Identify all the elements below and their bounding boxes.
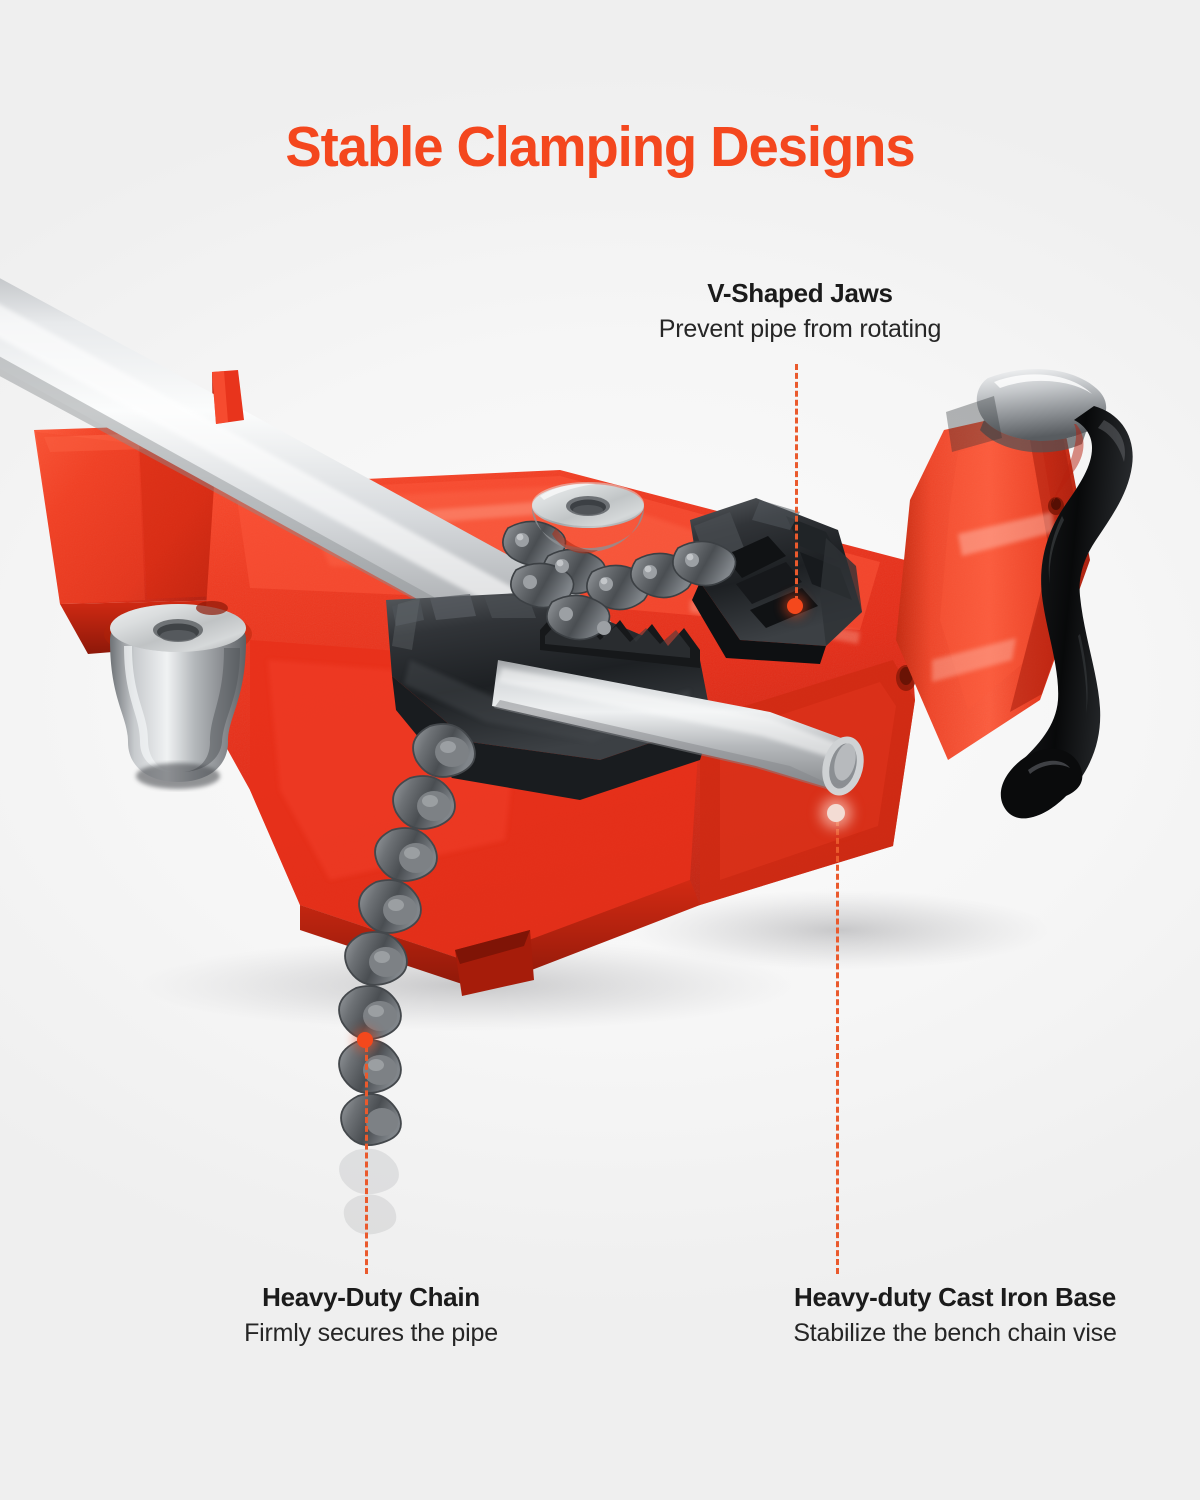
marker-dot-chain xyxy=(357,1032,373,1048)
callout-cast-iron-base: Heavy-duty Cast Iron Base Stabilize the … xyxy=(575,1282,1200,1349)
body-tab xyxy=(212,370,244,424)
connector-line-base xyxy=(836,820,839,1274)
marker-dot-jaws xyxy=(787,598,803,614)
connector-line-chain xyxy=(365,1046,368,1274)
hanging-chain xyxy=(339,724,475,1145)
callout-heading: Heavy-duty Cast Iron Base xyxy=(575,1282,1200,1313)
roller-chain xyxy=(339,521,735,1234)
steel-pipe-lower xyxy=(492,660,870,800)
screw-cap xyxy=(946,369,1106,452)
connector-line-jaws xyxy=(795,364,798,602)
callout-subtext: Stabilize the bench chain vise xyxy=(575,1317,1200,1350)
product-illustration xyxy=(0,0,1200,1500)
v-shaped-jaw-rear xyxy=(690,498,862,664)
chain-anchor-screw xyxy=(532,482,644,553)
infographic-canvas: Stable Clamping Designs V-Shaped Jaws Pr… xyxy=(0,0,1200,1500)
roller-spool xyxy=(104,601,252,789)
v-jaw-front xyxy=(386,592,712,800)
rear-plate xyxy=(34,372,240,654)
callout-subtext: Prevent pipe from rotating xyxy=(410,313,1190,346)
page-title: Stable Clamping Designs xyxy=(27,118,1173,176)
callout-v-shaped-jaws: V-Shaped Jaws Prevent pipe from rotating xyxy=(410,278,1190,345)
screw-column xyxy=(896,404,1090,760)
callout-heading: V-Shaped Jaws xyxy=(410,278,1190,309)
crank-handle xyxy=(1001,406,1133,818)
vise-body xyxy=(200,470,916,996)
marker-dot-base xyxy=(827,804,845,822)
